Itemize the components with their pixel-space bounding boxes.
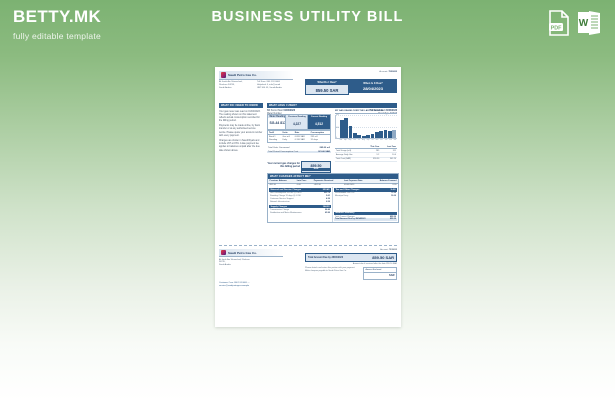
tariff-table: Tariff Units Rate Consumption Band 1 Gas… [267, 130, 331, 143]
stub-company-name: Saudi Petro Gas Co. [228, 251, 257, 255]
company-contact: Toll Free: 800 124 0000 Helpdesk 4, info… [257, 81, 282, 90]
chart-x-label: Jan [384, 140, 388, 141]
due-date-box: When Is It Due? 28/04/2023 [349, 79, 397, 93]
chart-bar [375, 132, 379, 139]
file-format-icons: PDF W [548, 10, 601, 36]
chart-x-label: Sep [366, 140, 370, 141]
due-date-value: 28/04/2023 [349, 85, 397, 92]
charge-line: Network Infrastructure 6.50 [269, 200, 331, 203]
account-number-top: Account: 7530033 [379, 71, 397, 73]
table-row: Standing Daily 0.310 SAR 31 days [268, 138, 330, 141]
current-charges-label: Your current gas charges for this billin… [267, 162, 300, 168]
chart-bar [388, 131, 392, 139]
current-charges-box: 859.50 SAR [301, 161, 331, 173]
chart-title: MY GAS USAGE OVER THE LAST 13 MONTHS [335, 110, 397, 114]
chart-x-label: Nov [375, 140, 379, 141]
chart-x-label: Jul [357, 140, 361, 141]
chart-bar [366, 135, 370, 138]
current-charges-unit: SAR [302, 168, 330, 171]
usage-comparison-table: This Year Last Year Total Usage (m3) 285… [335, 145, 397, 162]
company-address: Al Jarah Ain Shamshad, Dhahran 34235, Sa… [219, 81, 242, 90]
table-row: Total Cost (SAR) 859.50 901.20 [335, 157, 397, 161]
chart-bar [392, 130, 396, 138]
meter-reading-box: Meter Reading SG-44 817 22 Previous Read… [267, 114, 331, 130]
stub-instructions: Please detach and return this portion wi… [305, 267, 357, 273]
charges-left-column: Metered and Service Charges 553.45 Gas C… [268, 187, 333, 222]
chart-x-label: Jun [353, 140, 357, 141]
stub-right-panel: Account: 7530033 Total Amount Due by 28/… [305, 249, 397, 280]
chart-bar [371, 134, 375, 138]
chart-x-label: May [348, 140, 352, 141]
chart-bar [362, 136, 366, 139]
charges-columns: Metered and Service Charges 553.45 Gas C… [268, 187, 398, 222]
flame-logo-icon [221, 72, 227, 78]
balance-summary-table: Previous Balance Late Fees Payments Rece… [268, 179, 398, 187]
company-name: Saudi Petro Gas Co. [228, 73, 257, 77]
chart-bar [353, 133, 357, 138]
flame-logo-icon [221, 250, 227, 256]
y-tick-label: 400 [336, 127, 339, 129]
chart-bar [357, 135, 361, 138]
chart-x-label: Oct [371, 140, 375, 141]
bill-document-page[interactable]: Saudi Petro Gas Co. Al Jarah Ain Shamsha… [215, 67, 401, 327]
page-title: BUSINESS UTILITY BILL [0, 9, 615, 25]
chart-x-label: Mar [393, 140, 397, 141]
y-tick-label: 800 [336, 114, 339, 116]
usage-chart: MY GAS USAGE OVER THE LAST 13 MONTHS 800… [335, 110, 397, 141]
total-units-row: Total Units Consumed 285.00 m3 [267, 147, 331, 149]
chart-x-labels: MarAprMayJunJulAugSepOctNovDecJanFebMar [339, 140, 397, 141]
chart-bar [379, 131, 383, 138]
stub-company-logo: Saudi Petro Gas Co. [219, 249, 283, 257]
charges-section: WHAT CHARGES AFFECT ME? Previous Balance… [267, 173, 399, 223]
notes-header: WHAT DO I NEED TO KNOW [219, 103, 263, 108]
payment-stub: Saudi Petro Gas Co. Al Jarah Ain Shamsha… [219, 245, 397, 267]
stub-payment-row: Please detach and return this portion wi… [305, 267, 397, 280]
chart-bar [384, 130, 388, 138]
y-tick-label: 0 [336, 137, 337, 139]
top-banner: BETTY.MK fully editable template BUSINES… [0, 0, 615, 48]
current-reading-box: Current Reading 4,512 [307, 115, 330, 129]
usage-header: WHAT HAVE I USED? [267, 103, 397, 108]
chart-bar [340, 120, 344, 138]
chart-x-label: Dec [380, 140, 384, 141]
document-header: Saudi Petro Gas Co. Al Jarah Ain Shamsha… [219, 71, 397, 97]
previous-reading-box: Previous Reading 4,227 [285, 115, 308, 129]
stub-account-number: Account: 7530033 [305, 249, 397, 251]
note-item: Your gas meter was read on 01/04/2023. T… [219, 111, 263, 123]
charges-right-column: Tax and Other Charges %.00 Value Added T… [333, 187, 398, 222]
word-file-icon[interactable]: W [577, 10, 601, 36]
notes-sidebar: WHAT DO I NEED TO KNOW Your gas meter wa… [219, 103, 263, 153]
chart-x-label: Mar [339, 140, 343, 141]
pdf-file-icon[interactable]: PDF [548, 10, 570, 36]
amount-owed-value: 859.50 SAR [306, 85, 348, 93]
company-logo: Saudi Petro Gas Co. [219, 71, 293, 80]
customer-care-note: Customer Care: 800 124 0000 — service@sa… [219, 282, 263, 288]
charge-line: Distribution and Meter Maintenance 65.80 [269, 211, 331, 214]
total-due-line: Total Amount Due by 28/04/2023 859.50 [334, 218, 397, 221]
svg-text:W: W [579, 18, 589, 29]
svg-text:PDF: PDF [551, 25, 562, 31]
brand-tagline: fully editable template [13, 31, 101, 41]
amount-enclosed-box[interactable]: Amount Enclosed SAR [363, 267, 397, 280]
chart-x-label: Apr [344, 140, 348, 141]
chart-bar [349, 126, 353, 138]
chart-plot-area: 800 400 0 [335, 115, 397, 139]
chart-x-label: Aug [362, 140, 366, 141]
note-item: Charges are shown in Saudi Riyals and in… [219, 140, 263, 152]
total-cost-row: Total Period Consumption Cost 321.60 SAR [267, 151, 331, 153]
stub-due-note: Amount due if received after the date 85… [305, 263, 397, 265]
note-item: Payments may be made online, by bank tra… [219, 125, 263, 137]
chart-x-label: Feb [389, 140, 393, 141]
stub-due-bar: Total Amount Due by 28/04/2023 859.50 SA… [305, 253, 397, 262]
chart-bar [344, 118, 348, 138]
amount-owed-box: What Do I Owe? 859.50 SAR [305, 79, 349, 95]
chart-bars [340, 115, 396, 138]
